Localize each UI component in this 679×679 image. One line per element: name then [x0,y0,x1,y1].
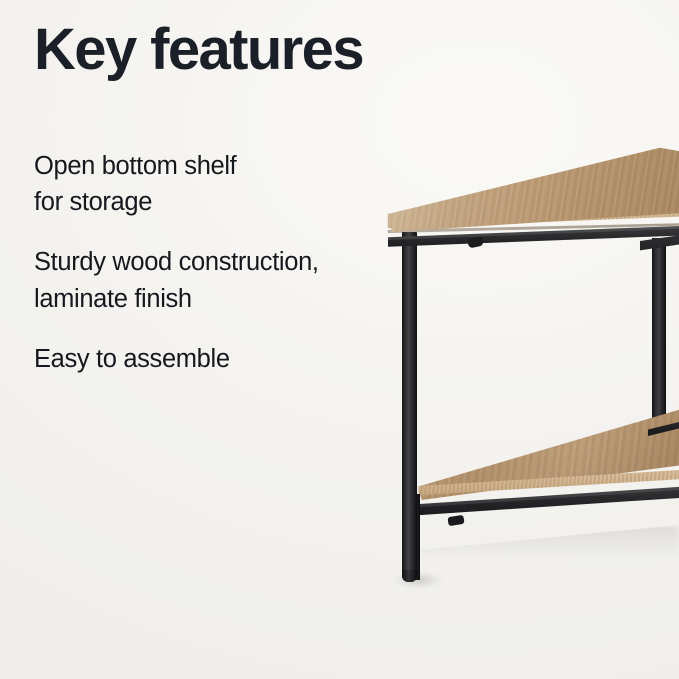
feature-item-1: Open bottom shelf for storage [34,148,394,220]
feature-text-column: Key features Open bottom shelf for stora… [34,0,404,679]
feature-list: Open bottom shelf for storage Sturdy woo… [34,148,394,377]
table-leg-rear-right [652,238,666,434]
product-feature-card: Key features Open bottom shelf for stora… [0,0,679,679]
feature-item-3: Easy to assemble [34,341,394,377]
page-title: Key features [34,20,363,81]
table-leg-front-left [402,232,417,582]
feature-item-2: Sturdy wood construction, laminate finis… [34,244,394,316]
